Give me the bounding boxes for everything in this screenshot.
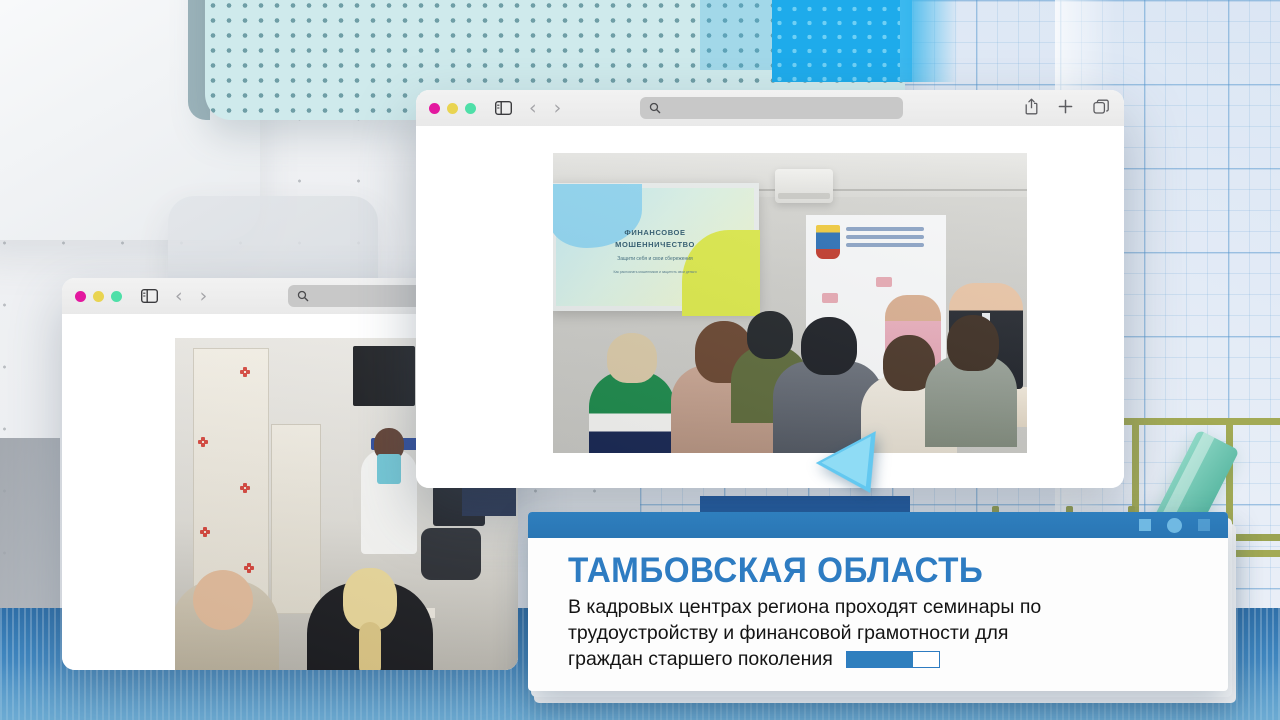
sidebar-icon[interactable]	[141, 289, 158, 303]
cyan-dotted-block	[772, 0, 912, 82]
cyan-fade-strip	[900, 0, 958, 82]
caption-progress-fill	[847, 652, 913, 667]
caption-progress-bar[interactable]	[846, 651, 940, 668]
sidebar-icon[interactable]	[495, 101, 512, 115]
caption-title: ТАМБОВСКАЯ ОБЛАСТЬ	[568, 552, 1168, 589]
titlebar-square-dot-icon	[1139, 519, 1151, 531]
cyan-block-soft	[700, 0, 780, 70]
traffic-lights-back[interactable]	[75, 291, 122, 302]
scene: ‹ ›	[0, 0, 1280, 720]
search-icon	[649, 102, 661, 114]
caption-line-1: В кадровых центрах региона проходят семи…	[568, 595, 1200, 621]
lower-third-caption: ТАМБОВСКАЯ ОБЛАСТЬ В кадровых центрах ре…	[528, 512, 1228, 691]
new-tab-icon[interactable]	[1058, 99, 1073, 114]
titlebar-faint-dot-icon	[1198, 519, 1210, 531]
zoom-button-icon[interactable]	[111, 291, 122, 302]
close-button-icon[interactable]	[429, 103, 440, 114]
traffic-lights-front[interactable]	[429, 103, 476, 114]
caption-titlebar	[528, 512, 1228, 538]
caption-line-3-row: граждан старшего поколения	[568, 647, 1200, 673]
forward-button[interactable]: ›	[554, 97, 562, 119]
search-icon	[297, 290, 309, 302]
zoom-button-icon[interactable]	[465, 103, 476, 114]
photo-seminar-room: ФИНАНСОВОЕ МОШЕННИЧЕСТВО Защити себя и с…	[553, 153, 1027, 453]
toolbar-right-icons	[1025, 98, 1110, 115]
back-button[interactable]: ‹	[175, 285, 183, 307]
titlebar-round-dot-icon	[1167, 518, 1182, 533]
browser-front-titlebar: ‹ ›	[416, 90, 1124, 127]
caption-body: ТАМБОВСКАЯ ОБЛАСТЬ В кадровых центрах ре…	[528, 538, 1228, 691]
minimize-button-icon[interactable]	[93, 291, 104, 302]
caption-line-2: трудоустройству и финансовой грамотности…	[568, 621, 1200, 647]
tab-overview-icon[interactable]	[1093, 99, 1110, 115]
minimize-button-icon[interactable]	[447, 103, 458, 114]
caption-line-3: граждан старшего поколения	[568, 647, 833, 673]
caption-card: ТАМБОВСКАЯ ОБЛАСТЬ В кадровых центрах ре…	[528, 512, 1228, 691]
forward-button[interactable]: ›	[200, 285, 208, 307]
share-icon[interactable]	[1025, 98, 1038, 115]
browser-front-content: ФИНАНСОВОЕ МОШЕННИЧЕСТВО Защити себя и с…	[416, 126, 1124, 488]
close-button-icon[interactable]	[75, 291, 86, 302]
browser-window-front[interactable]: ‹ ›	[416, 90, 1124, 488]
back-button[interactable]: ‹	[529, 97, 537, 119]
address-bar-front[interactable]	[640, 97, 903, 119]
